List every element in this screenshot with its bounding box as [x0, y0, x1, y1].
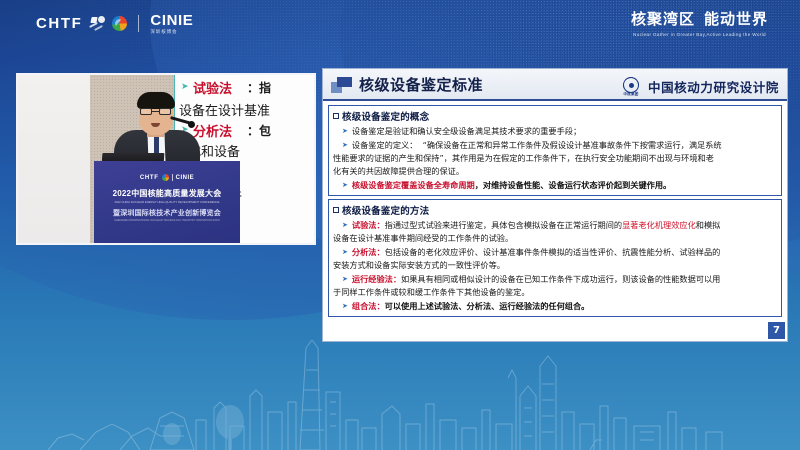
- method-oe-key: 运行经验法：: [352, 274, 401, 284]
- method-combination-a: 可以使用上述试验法、分析法、运行经验法的任何组合。: [385, 301, 590, 311]
- section1-heading-row: 核级设备鉴定的概念: [333, 109, 777, 123]
- podium-title-line1-en: 2022 CHINA NUCLEAR ENERGY HIGH-QUALITY D…: [94, 200, 240, 204]
- arrow-bullet-icon: ➤: [333, 300, 348, 313]
- method-test-c-red: 设计基准事件: [358, 233, 407, 243]
- method-analysis-key: 分析法：: [352, 247, 385, 257]
- screen-line-2: 设备在设计基准: [179, 100, 270, 119]
- s1b2-red1: 在假定的工作条件下: [493, 153, 567, 163]
- event-logo-group: CHTF CINIE 深圳核博会: [36, 13, 193, 35]
- arrow-bullet-icon: ➤: [333, 246, 348, 259]
- chtf-emblem-icon: [89, 16, 106, 31]
- method-combination: ➤ 组合法：可以使用上述试验法、分析法、运行经验法的任何组合。: [333, 300, 777, 313]
- slide-section-methods: 核级设备鉴定的方法 ➤ 试验法：指通过型式试验来进行鉴定，具体包含模拟设备在正常…: [328, 199, 782, 317]
- section1-bullet-1: ➤ 设备鉴定是验证和确认安全级设备满足其技术要求的重要手段；: [333, 125, 777, 138]
- screen-bullet-arrow-icon: ➤: [181, 81, 189, 92]
- presentation-slide-panel[interactable]: 核级设备鉴定标准 中核集团 中国核动力研究设计院 核级设备鉴定的概念 ➤ 设备鉴…: [322, 68, 788, 342]
- cnnc-atom-icon: 中核集团: [620, 75, 642, 97]
- podium-title-line2: 暨深圳国际核技术产业创新博览会: [94, 208, 240, 218]
- slide-body: 核级设备鉴定的概念 ➤ 设备鉴定是验证和确认安全级设备满足其技术要求的重要手段；…: [323, 101, 787, 341]
- section2-heading-row: 核级设备鉴定的方法: [333, 203, 777, 217]
- method-operating-experience-cont: 于同样工作条件或较和缓工作条件下其他设备的鉴定。: [333, 286, 777, 299]
- method-test-c-pre: 设备在: [333, 233, 358, 243]
- s1b2-red2: 在执行安全功能期间不出现与环境和老: [575, 153, 714, 163]
- section1-heading: 核级设备鉴定的概念: [342, 109, 429, 123]
- section1-bullet-2-cont1: 性能要求的证据的产生和保持”，其作用是为在假定的工作条件下，在执行安全功能期间不…: [333, 152, 777, 165]
- podium-globe-icon: [162, 174, 169, 181]
- s1b3-rest: ，对维持设备性能、设备运行状态评价起到关键作用。: [475, 180, 672, 190]
- slide-header-mark-icon: [331, 77, 353, 93]
- section1-bullet-2-cont2: 化有关的共因故障提供合理的保证。: [333, 165, 777, 178]
- podium-title-line1: 2022中国核能高质量发展大会: [94, 188, 240, 199]
- city-skyline-illustration: [0, 340, 800, 450]
- method-combination-text: 组合法：可以使用上述试验法、分析法、运行经验法的任何组合。: [352, 300, 589, 313]
- method-analysis-a: 包括设备的老化效应评价、设计基准事件条件模拟的适当性评价、抗震性能分析、试验样品…: [385, 247, 721, 257]
- method-oe-a: 如果具有相同或相似设计的设备在已知工作条件下成功运行，则该设备的性能数据可以用: [401, 274, 720, 284]
- podium-cinie-text: CINIE: [176, 175, 195, 181]
- method-test-text: 试验法：指通过型式试验来进行鉴定，具体包含模拟设备在正常运行期间的显著老化机理效…: [352, 219, 721, 232]
- method-combination-key: 组合法：: [352, 301, 385, 311]
- slogan-chinese: 核聚湾区能动世界: [631, 12, 768, 29]
- organization-name: 中国核动力研究设计院: [648, 77, 779, 96]
- section1-bullet-2-lead: 设备鉴定的定义：: [352, 140, 418, 150]
- section-square-bullet-icon: [333, 207, 339, 213]
- method-analysis: ➤ 分析法：包括设备的老化效应评价、设计基准事件条件模拟的适当性评价、抗震性能分…: [333, 246, 777, 259]
- method-operating-experience-text: 运行经验法：如果具有相同或相似设计的设备在已知工作条件下成功运行，则该设备的性能…: [352, 273, 720, 286]
- arrow-bullet-icon: ➤: [333, 219, 348, 232]
- podium-logo-group: CHTF CINIE: [94, 174, 240, 181]
- screen-line-3-rest: ：包: [247, 122, 271, 139]
- method-analysis-text: 分析法：包括设备的老化效应评价、设计基准事件条件模拟的适当性评价、抗震性能分析、…: [352, 246, 720, 259]
- arrow-bullet-icon: ➤: [333, 125, 348, 138]
- screen-line-1-rest: ：指: [247, 79, 271, 96]
- method-test-red: 显著老化机理效应化: [622, 220, 696, 230]
- method-analysis-cont: 安装方式和设备实际安装方式的一致性评价等。: [333, 259, 777, 272]
- section1-bullet-2-quote: “确保设备在正常和异常工作条件及假设设计基准事故条件下按需求运行，满足系统: [423, 140, 722, 150]
- speaker-glasses-bridge: [152, 111, 159, 112]
- section2-heading: 核级设备鉴定的方法: [342, 203, 429, 217]
- section1-bullet-3: ➤ 核级设备鉴定覆盖设备全寿命周期，对维持设备性能、设备运行状态评价起到关键作用…: [333, 179, 777, 192]
- method-test-key: 试验法：: [352, 220, 385, 230]
- section-square-bullet-icon: [333, 113, 339, 119]
- slide-header: 核级设备鉴定标准 中核集团 中国核动力研究设计院: [323, 69, 787, 101]
- microphone-head-icon: [188, 121, 195, 128]
- slide-section-concept: 核级设备鉴定的概念 ➤ 设备鉴定是验证和确认安全级设备满足其技术要求的重要手段；…: [328, 105, 782, 196]
- slogan-chinese-part1: 核聚湾区: [631, 11, 695, 28]
- method-test-c-post: 期间经受的工作条件的试验。: [407, 233, 513, 243]
- cinie-logo-text: CINIE: [150, 13, 193, 28]
- s1b2-mid: ，: [567, 153, 575, 163]
- s1b2-red3: 化有关的共因故障: [333, 166, 399, 176]
- podium: CHTF CINIE 2022中国核能高质量发展大会 2022 CHINA NU…: [94, 161, 240, 245]
- arrow-bullet-icon: ➤: [333, 273, 348, 286]
- section1-bullet-2-text: 设备鉴定的定义： “确保设备在正常和异常工作条件及假设设计基准事故条件下按需求运…: [352, 139, 722, 152]
- arrow-bullet-icon: ➤: [333, 179, 348, 192]
- cinie-globe-icon: [112, 16, 127, 31]
- podium-chtf-text: CHTF: [140, 175, 159, 181]
- s1b2-pre: 性能要求的证据的产生和保持”，其作用是为: [333, 153, 493, 163]
- method-operating-experience: ➤ 运行经验法：如果具有相同或相似设计的设备在已知工作条件下成功运行，则该设备的…: [333, 273, 777, 286]
- cinie-logo-subtitle: 深圳核博会: [150, 30, 193, 35]
- method-test-cont: 设备在设计基准事件期间经受的工作条件的试验。: [333, 232, 777, 245]
- arrow-bullet-icon: ➤: [333, 139, 348, 152]
- method-test-a: 指通过型式试验来进行鉴定，具体包含模拟设备在正常运行期间的: [385, 220, 622, 230]
- slogan-chinese-part2: 能动世界: [704, 11, 768, 28]
- top-banner: CHTF CINIE 深圳核博会 核聚湾区能动世界 Nuclear Gather…: [0, 0, 800, 56]
- organization-logo-group: 中核集团 中国核动力研究设计院: [620, 75, 779, 97]
- cinie-logo-group: CINIE 深圳核博会: [150, 13, 193, 35]
- speaker-glasses-left: [140, 108, 152, 115]
- speaker-video-panel[interactable]: ➤ 试验法 ：指 设备在设计基准 ➤ 分析法 ：包 方式和设备 行经验法 样工作…: [16, 73, 316, 245]
- podium-logo-divider: [172, 174, 173, 181]
- s1b3-red: 核级设备鉴定覆盖设备全寿命周期: [352, 180, 475, 190]
- section1-bullet-2: ➤ 设备鉴定的定义： “确保设备在正常和异常工作条件及假设设计基准事故条件下按需…: [333, 139, 777, 152]
- s1b2-post: 提供合理的保证。: [399, 166, 465, 176]
- screen-line-1-key: 试验法: [193, 78, 232, 97]
- screen-root: CHTF CINIE 深圳核博会 核聚湾区能动世界 Nuclear Gather…: [0, 0, 800, 450]
- section1-bullet-1-text: 设备鉴定是验证和确认安全级设备满足其技术要求的重要手段；: [352, 125, 581, 138]
- slide-page-number: 7: [768, 322, 785, 339]
- method-test: ➤ 试验法：指通过型式试验来进行鉴定，具体包含模拟设备在正常运行期间的显著老化机…: [333, 219, 777, 232]
- chtf-logo-text: CHTF: [36, 16, 82, 31]
- event-slogan-group: 核聚湾区能动世界 Nuclear Gather in Greater Bay,A…: [631, 12, 768, 37]
- logo-divider: [138, 15, 139, 32]
- screen-line-3-key: 分析法: [193, 121, 232, 140]
- cnnc-emblem-caption: 中核集团: [620, 92, 642, 97]
- speaker-glasses-right: [159, 108, 171, 115]
- podium-title-line2-en: SHENZHEN INTERNATIONAL NUCLEAR TECHNOLOG…: [94, 219, 240, 222]
- method-test-b: 和模拟: [696, 220, 721, 230]
- section1-bullet-3-text: 核级设备鉴定覆盖设备全寿命周期，对维持设备性能、设备运行状态评价起到关键作用。: [352, 179, 671, 192]
- slide-title: 核级设备鉴定标准: [359, 74, 483, 95]
- speaker-hair: [137, 92, 175, 109]
- slogan-english: Nuclear Gather in Greater Bay,Active Lea…: [631, 32, 768, 37]
